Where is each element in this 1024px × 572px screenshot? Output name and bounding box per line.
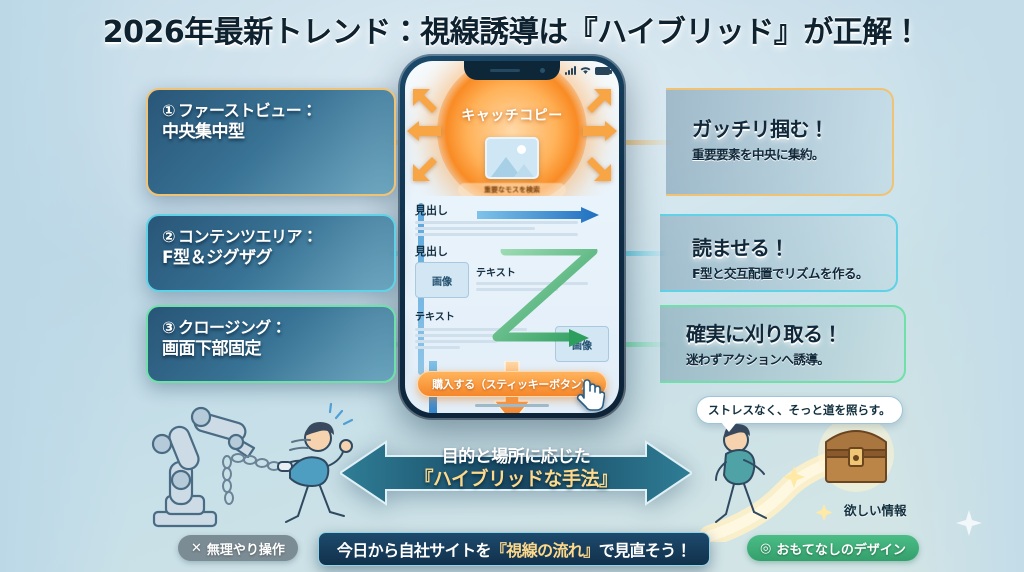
benefit-text-2: 読ませる！ F型と交互配置でリズムを作る。: [692, 232, 868, 282]
status-badge-ok: ◎ おもてなしのデザイン: [747, 535, 919, 561]
chest-label: 欲しい情報: [844, 500, 907, 519]
f-pattern-arrow-icon: [477, 207, 599, 227]
inward-arrow-top-right: [579, 87, 613, 117]
phone-notch: [464, 61, 560, 80]
inward-arrow-bottom-right: [579, 153, 613, 183]
heading-label-2: 見出し: [415, 243, 448, 259]
treasure-chest-icon: [826, 431, 886, 482]
home-indicator: [475, 404, 549, 407]
z-pattern-path-icon: [457, 249, 603, 369]
first-view-section: キャッチコピー 重要なモスを検索: [405, 61, 619, 196]
step-number-2: ②: [162, 226, 175, 247]
phone-screen: キャッチコピー 重要なモスを検索 見出し 見出し: [405, 61, 619, 413]
benefit-text-1: ガッチリ掴む！ 重要要素を中央に集約。: [692, 113, 829, 163]
search-input[interactable]: 重要なモスを検索: [458, 183, 566, 196]
inward-arrow-right: [581, 119, 617, 143]
hand-cursor-icon: [575, 377, 605, 413]
benefit-sub-1: 重要要素を中央に集約。: [692, 144, 829, 163]
sweat-marks-icon: [330, 404, 352, 424]
call-to-action-ribbon: 今日から自社サイトを『視線の流れ』で見直そう！: [318, 532, 710, 566]
left-edge-gradient: [0, 0, 130, 572]
dragged-person-icon: [278, 422, 352, 522]
speech-bubble: ストレスなく、そっと道を照らす。: [696, 396, 903, 424]
step-card-3-line2: 画面下部固定: [162, 338, 380, 360]
step-card-1-line1: ①ファーストビュー：: [162, 100, 380, 121]
page-title: 2026年最新トレンド：視線誘導は『ハイブリッド』が正解！: [0, 5, 1024, 53]
inward-arrow-bottom-left: [411, 153, 445, 183]
step-card-1-line2: 中央集中型: [162, 121, 380, 143]
robot-arm-icon: [153, 408, 254, 526]
status-bar: [565, 65, 610, 75]
battery-icon: [595, 67, 610, 75]
circle-mark-icon: ◎: [760, 541, 771, 556]
step-card-3-line1: ③クロージング：: [162, 317, 380, 338]
ribbon-gold: 『視線の流れ』: [491, 537, 599, 561]
pill-ok-label: おもてなしのデザイン: [776, 539, 905, 558]
benefit-headline-2: 読ませる！: [692, 232, 868, 261]
ribbon-post: で見直そう！: [599, 537, 691, 561]
guided-experience-illustration: ストレスなく、そっと道を照らす。 欲しい情報: [690, 396, 958, 542]
sparkle-decoration-icon: [956, 510, 982, 536]
signal-bars-icon: [565, 66, 576, 75]
infographic-canvas: 2026年最新トレンド：視線誘導は『ハイブリッド』が正解！: [0, 0, 1024, 572]
step-number-1: ①: [162, 100, 175, 121]
hybrid-method-banner: 目的と場所に応じた 『ハイブリッドな手法』: [340, 436, 692, 510]
benefit-sub-3: 迷わずアクションへ誘導。: [686, 349, 842, 368]
text-label-2: テキスト: [415, 308, 455, 323]
step-card-3[interactable]: ③クロージング： 画面下部固定: [146, 305, 396, 383]
image-placeholder-icon: [485, 137, 539, 179]
step-card-2[interactable]: ②コンテンツエリア： F型＆ジグザグ: [146, 214, 396, 292]
sun-shape: [517, 145, 526, 154]
ribbon-pre: 今日から自社サイトを: [337, 537, 491, 561]
mountain-shape-2: [514, 164, 534, 177]
benefit-headline-1: ガッチリ掴む！: [692, 113, 829, 142]
front-camera-icon: [540, 68, 545, 73]
heading-label-1: 見出し: [415, 202, 448, 218]
chain-icon: [223, 454, 280, 504]
wifi-icon: [579, 65, 592, 75]
benefit-headline-3: 確実に刈り取る！: [686, 318, 842, 347]
benefit-sub-2: F型と交互配置でリズムを作る。: [692, 263, 868, 282]
status-badge-ng: ✕ 無理やり操作: [178, 535, 298, 561]
banner-text: 目的と場所に応じた 『ハイブリッドな手法』: [340, 447, 692, 491]
forced-operation-illustration: [132, 400, 368, 540]
step-card-1[interactable]: ①ファーストビュー： 中央集中型: [146, 88, 396, 196]
banner-line-2: 『ハイブリッドな手法』: [340, 468, 692, 491]
pill-ng-label: 無理やり操作: [207, 539, 285, 558]
step-number-3: ③: [162, 317, 175, 338]
step-card-2-line2: F型＆ジグザグ: [162, 247, 380, 269]
inward-arrow-left: [407, 119, 443, 143]
banner-line-1: 目的と場所に応じた: [340, 447, 692, 468]
smartphone-mockup: キャッチコピー 重要なモスを検索 見出し 見出し: [398, 54, 626, 420]
cross-mark-icon: ✕: [191, 541, 202, 556]
step-card-2-line1: ②コンテンツエリア：: [162, 226, 380, 247]
inward-arrow-top-left: [411, 87, 445, 117]
benefit-text-3: 確実に刈り取る！ 迷わずアクションへ誘導。: [686, 318, 842, 368]
speaker-slot-icon: [490, 69, 520, 72]
